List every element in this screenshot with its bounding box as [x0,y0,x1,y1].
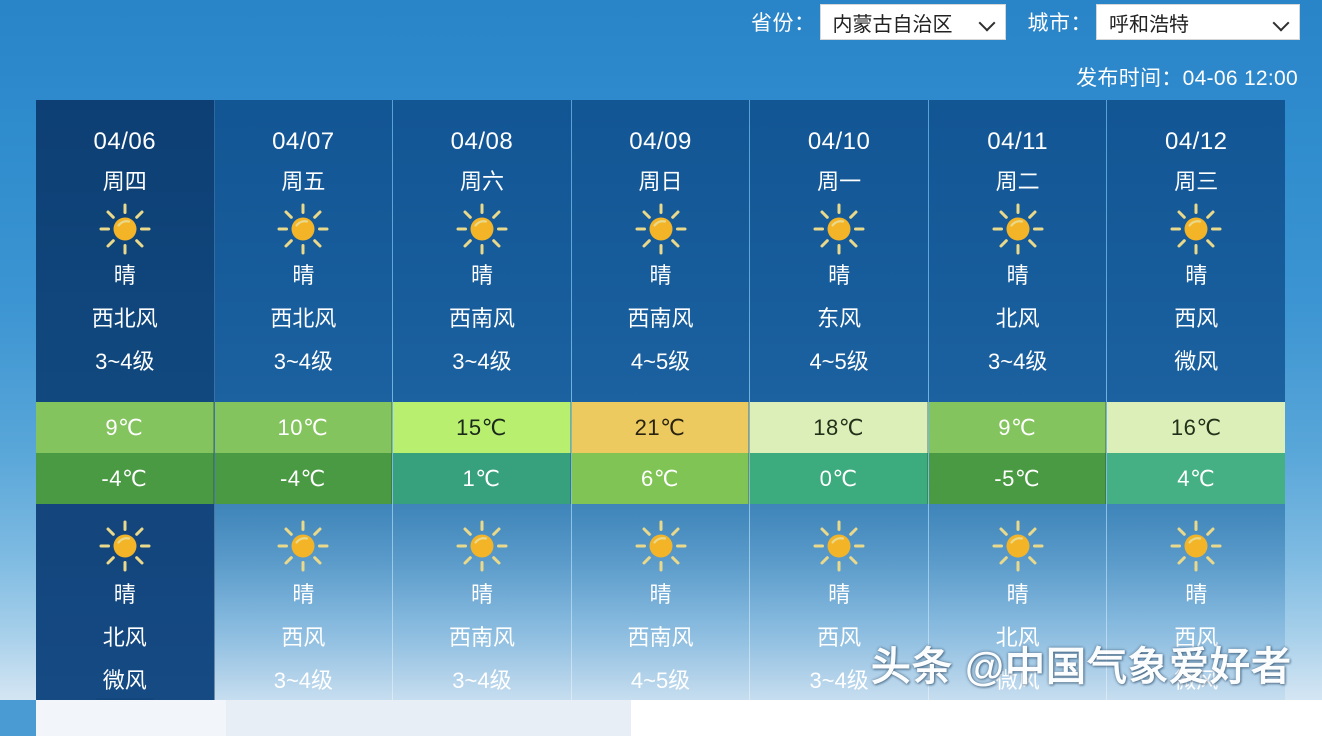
sun-icon [813,203,865,255]
day-wind-force: 3~4级 [988,351,1047,373]
day-weekday: 周三 [1174,171,1218,193]
province-dropdown-value: 内蒙古自治区 [833,8,953,37]
sun-icon [99,203,151,255]
night-wind-direction: 西风 [281,627,325,649]
night-condition: 晴 [1185,584,1207,606]
city-label: 城市： [1028,7,1093,37]
day-wind-force: 4~5级 [631,351,690,373]
day-weekday: 周一 [817,171,861,193]
night-wind-force: 微风 [103,670,147,692]
chevron-down-icon [979,14,995,30]
chevron-down-icon [1273,14,1289,30]
temp-high: 10℃ [215,402,393,453]
city-selector-group: 城市： 呼和浩特 [1028,4,1301,40]
temp-high: 9℃ [929,402,1107,453]
day-wind-force: 3~4级 [274,351,333,373]
night-panel: 晴 北风 微风 [36,504,214,700]
day-condition: 晴 [828,265,850,287]
day-weekday: 周四 [103,171,147,193]
day-condition: 晴 [292,265,314,287]
day-wind-force: 4~5级 [809,351,868,373]
day-wind-force: 3~4级 [452,351,511,373]
day-panel: 04/09 周日 晴 西南风 4~5级 [572,100,750,402]
location-selectors: 省份： 内蒙古自治区 城市： 呼和浩特 [751,4,1300,40]
province-label: 省份： [751,7,816,37]
day-panel: 04/11 周二 晴 北风 3~4级 [929,100,1107,402]
temp-high: 15℃ [393,402,571,453]
night-wind-force: 3~4级 [452,670,511,692]
day-wind-direction: 西南风 [628,308,694,330]
night-wind-force: 4~5级 [631,670,690,692]
temp-low: 6℃ [572,453,750,504]
night-condition: 晴 [114,584,136,606]
page-header: 省份： 内蒙古自治区 城市： 呼和浩特 发布时间：04-06 12:00 [0,0,1322,100]
sun-icon [635,203,687,255]
day-wind-force: 3~4级 [95,351,154,373]
day-wind-direction: 西南风 [449,308,515,330]
day-weekday: 周日 [639,171,683,193]
temp-high: 9℃ [36,402,214,453]
day-wind-direction: 北风 [996,308,1040,330]
sun-icon [1170,520,1222,572]
city-dropdown-value: 呼和浩特 [1109,8,1189,37]
day-column[interactable]: 04/08 周六 晴 西南风 3~4级 15℃ 1℃ 晴 西南风 3~4级 [393,100,572,700]
night-panel: 晴 西南风 3~4级 [393,504,571,700]
night-wind-direction: 西南风 [449,627,515,649]
sun-icon [992,520,1044,572]
day-wind-direction: 西北风 [92,308,158,330]
day-date: 04/10 [808,130,871,154]
day-column[interactable]: 04/11 周二 晴 北风 3~4级 9℃ -5℃ 晴 北风 微风 [929,100,1108,700]
sun-icon [992,203,1044,255]
province-selector-group: 省份： 内蒙古自治区 [751,4,1006,40]
night-wind-force: 3~4级 [274,670,333,692]
temp-low: -4℃ [36,453,214,504]
day-condition: 晴 [1007,265,1029,287]
night-condition: 晴 [1007,584,1029,606]
sun-icon [277,520,329,572]
night-panel: 晴 西风 3~4级 [215,504,393,700]
night-condition: 晴 [828,584,850,606]
day-condition: 晴 [114,265,136,287]
temp-low: 0℃ [750,453,928,504]
day-weekday: 周二 [996,171,1040,193]
night-wind-direction: 北风 [103,627,147,649]
day-date: 04/07 [272,130,335,154]
sun-icon [456,203,508,255]
day-panel: 04/07 周五 晴 西北风 3~4级 [215,100,393,402]
strip-left-edge [0,700,36,736]
day-column[interactable]: 04/10 周一 晴 东风 4~5级 18℃ 0℃ 晴 西风 3~4级 [750,100,929,700]
day-column[interactable]: 04/09 周日 晴 西南风 4~5级 21℃ 6℃ 晴 西南风 4~5级 [572,100,751,700]
day-condition: 晴 [471,265,493,287]
day-column[interactable]: 04/07 周五 晴 西北风 3~4级 10℃ -4℃ 晴 西风 3~4级 [215,100,394,700]
day-panel: 04/12 周三 晴 西风 微风 [1107,100,1285,402]
day-weekday: 周六 [460,171,504,193]
night-panel: 晴 西南风 4~5级 [572,504,750,700]
publish-time: 发布时间：04-06 12:00 [1076,62,1298,92]
sun-icon [277,203,329,255]
day-panel: 04/06 周四 晴 西北风 3~4级 [36,100,214,402]
day-wind-force: 微风 [1174,351,1218,373]
bottom-strip [0,700,1322,736]
night-condition: 晴 [650,584,672,606]
sun-icon [456,520,508,572]
day-condition: 晴 [650,265,672,287]
day-condition: 晴 [1185,265,1207,287]
day-date: 04/09 [629,130,692,154]
night-wind-direction: 西南风 [628,627,694,649]
temp-low: -4℃ [215,453,393,504]
night-wind-force: 3~4级 [809,670,868,692]
day-date: 04/11 [987,130,1048,154]
night-wind-direction: 西风 [817,627,861,649]
day-wind-direction: 西北风 [270,308,336,330]
day-wind-direction: 西风 [1174,308,1218,330]
strip-panel-a[interactable] [36,700,226,736]
watermark: 头条 @中国气象爱好者 [871,634,1292,692]
night-condition: 晴 [471,584,493,606]
day-panel: 04/08 周六 晴 西南风 3~4级 [393,100,571,402]
day-date: 04/06 [94,130,157,154]
day-date: 04/12 [1165,130,1228,154]
day-column[interactable]: 04/12 周三 晴 西风 微风 16℃ 4℃ 晴 西风 微风 [1107,100,1285,700]
sun-icon [813,520,865,572]
day-column[interactable]: 04/06 周四 晴 西北风 3~4级 9℃ -4℃ 晴 北风 微风 [36,100,215,700]
temp-low: 1℃ [393,453,571,504]
strip-panel-b[interactable] [226,700,631,736]
province-dropdown[interactable]: 内蒙古自治区 [820,4,1006,40]
city-dropdown[interactable]: 呼和浩特 [1096,4,1300,40]
sun-icon [1170,203,1222,255]
sun-icon [99,520,151,572]
temp-high: 18℃ [750,402,928,453]
day-date: 04/08 [451,130,514,154]
temp-low: -5℃ [929,453,1107,504]
day-wind-direction: 东风 [817,308,861,330]
temp-low: 4℃ [1107,453,1285,504]
day-panel: 04/10 周一 晴 东风 4~5级 [750,100,928,402]
temp-high: 21℃ [572,402,750,453]
sun-icon [635,520,687,572]
temp-high: 16℃ [1107,402,1285,453]
forecast-grid: 04/06 周四 晴 西北风 3~4级 9℃ -4℃ 晴 北风 微风 04/07… [36,100,1285,700]
day-weekday: 周五 [281,171,325,193]
night-condition: 晴 [292,584,314,606]
